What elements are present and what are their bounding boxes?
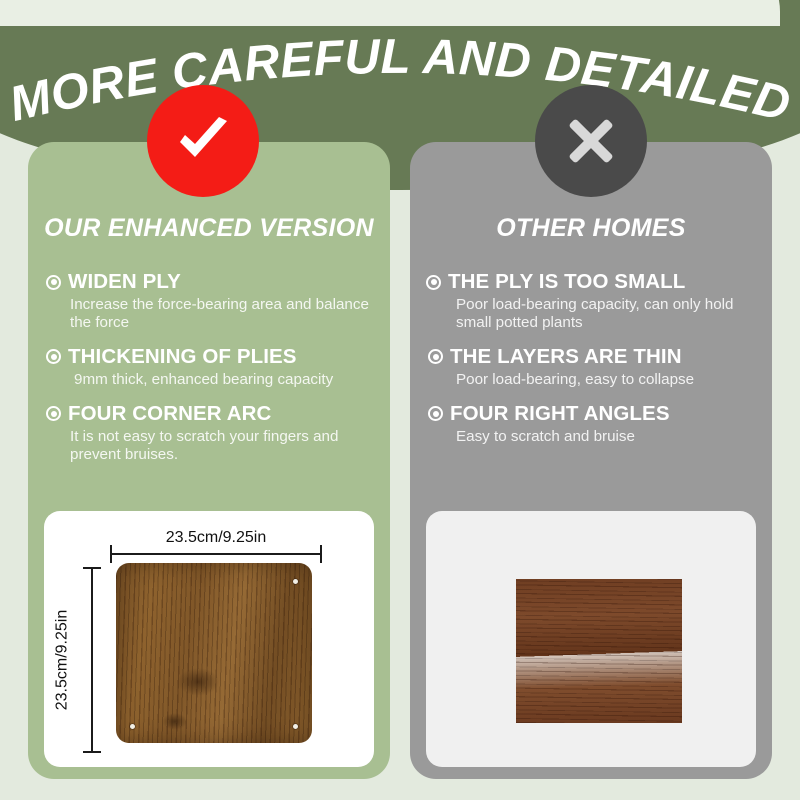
feature-ply-too-small: THE PLY IS TOO SMALL Poor load-bearing c… <box>426 270 758 332</box>
feature-heading-row: THE PLY IS TOO SMALL <box>426 270 758 294</box>
feature-description: Increase the force-bearing area and bala… <box>44 296 376 332</box>
check-badge <box>147 85 259 197</box>
wood-board-square <box>516 579 682 723</box>
feature-heading-row: FOUR CORNER ARC <box>44 402 376 426</box>
bullet-icon <box>428 406 443 421</box>
panel-title-good: OUR ENHANCED VERSION <box>28 214 390 243</box>
dimension-height-text: 23.5cm/9.25in <box>53 610 71 711</box>
bullet-icon <box>46 406 61 421</box>
wood-board-rounded <box>116 563 312 743</box>
feature-four-right-angles: FOUR RIGHT ANGLES Easy to scratch and br… <box>426 402 758 446</box>
dimension-height-label: 23.5cm/9.25in <box>52 567 72 753</box>
infographic-page: MORE CAREFUL AND DETAILED OUR ENHANCED V… <box>0 0 800 800</box>
check-icon <box>170 108 236 174</box>
feature-heading: THICKENING OF PLIES <box>68 345 297 369</box>
screw-hole-icon <box>130 724 135 729</box>
feature-heading-row: THE LAYERS ARE THIN <box>426 345 758 369</box>
photo-card-bad <box>426 511 756 767</box>
feature-description: Poor load-bearing capacity, can only hol… <box>426 296 758 332</box>
bullet-icon <box>46 275 61 290</box>
bullet-icon <box>46 349 61 364</box>
cross-badge <box>535 85 647 197</box>
feature-heading: WIDEN PLY <box>68 270 181 294</box>
cross-icon <box>562 112 620 170</box>
feature-heading: FOUR CORNER ARC <box>68 402 271 426</box>
feature-description: Poor load-bearing, easy to collapse <box>426 371 758 389</box>
feature-list-good: WIDEN PLY Increase the force-bearing are… <box>28 270 390 477</box>
screw-hole-icon <box>293 724 298 729</box>
header-inner-curve <box>0 0 780 26</box>
feature-thickening-of-plies: THICKENING OF PLIES 9mm thick, enhanced … <box>44 345 376 389</box>
feature-heading: THE LAYERS ARE THIN <box>450 345 682 369</box>
photo-card-good: 23.5cm/9.25in 23.5cm/9.25in <box>44 511 374 767</box>
feature-heading: THE PLY IS TOO SMALL <box>448 270 685 294</box>
feature-heading-row: FOUR RIGHT ANGLES <box>426 402 758 426</box>
dimension-width-line <box>110 553 322 555</box>
feature-four-corner-arc: FOUR CORNER ARC It is not easy to scratc… <box>44 402 376 464</box>
panel-title-bad: OTHER HOMES <box>410 214 772 243</box>
feature-list-bad: THE PLY IS TOO SMALL Poor load-bearing c… <box>410 270 772 459</box>
feature-description: It is not easy to scratch your fingers a… <box>44 428 376 464</box>
dimension-width-label: 23.5cm/9.25in <box>110 529 322 547</box>
feature-heading-row: THICKENING OF PLIES <box>44 345 376 369</box>
screw-hole-icon <box>293 579 298 584</box>
panel-other-homes: OTHER HOMES THE PLY IS TOO SMALL Poor lo… <box>410 142 772 779</box>
feature-description: Easy to scratch and bruise <box>426 428 758 446</box>
feature-description: 9mm thick, enhanced bearing capacity <box>44 371 376 389</box>
feature-heading: FOUR RIGHT ANGLES <box>450 402 670 426</box>
panel-our-enhanced-version: OUR ENHANCED VERSION WIDEN PLY Increase … <box>28 142 390 779</box>
feature-layers-are-thin: THE LAYERS ARE THIN Poor load-bearing, e… <box>426 345 758 389</box>
feature-heading-row: WIDEN PLY <box>44 270 376 294</box>
bullet-icon <box>428 349 443 364</box>
dimension-height-line <box>91 567 93 753</box>
feature-widen-ply: WIDEN PLY Increase the force-bearing are… <box>44 270 376 332</box>
bullet-icon <box>426 275 441 290</box>
